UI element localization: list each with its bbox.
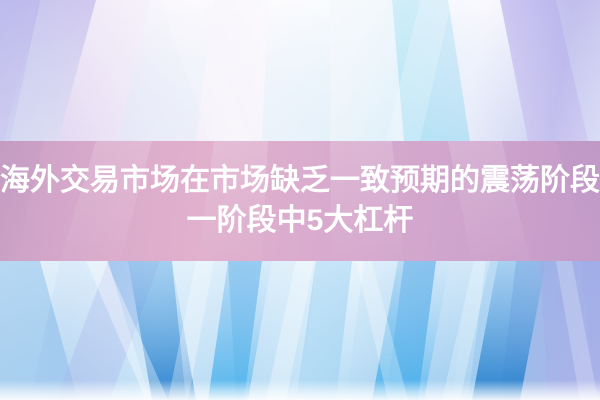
- bottom-facet-section: [0, 261, 600, 400]
- headline-line-2: 一阶段中5大杠杆: [187, 201, 414, 241]
- banner-image: 在海外交易市场在市场缺乏一致预期的震荡阶段这 一阶段中5大杠杆: [0, 0, 600, 400]
- bottom-facet-shapes: [0, 261, 600, 400]
- headline-line-1: 在海外交易市场在市场缺乏一致预期的震荡阶段这: [0, 161, 600, 201]
- headline-block: 在海外交易市场在市场缺乏一致预期的震荡阶段这 一阶段中5大杠杆: [0, 141, 600, 261]
- top-facet-shapes: [0, 0, 600, 141]
- top-facet-section: [0, 0, 600, 141]
- bottom-white-fade: [0, 380, 600, 400]
